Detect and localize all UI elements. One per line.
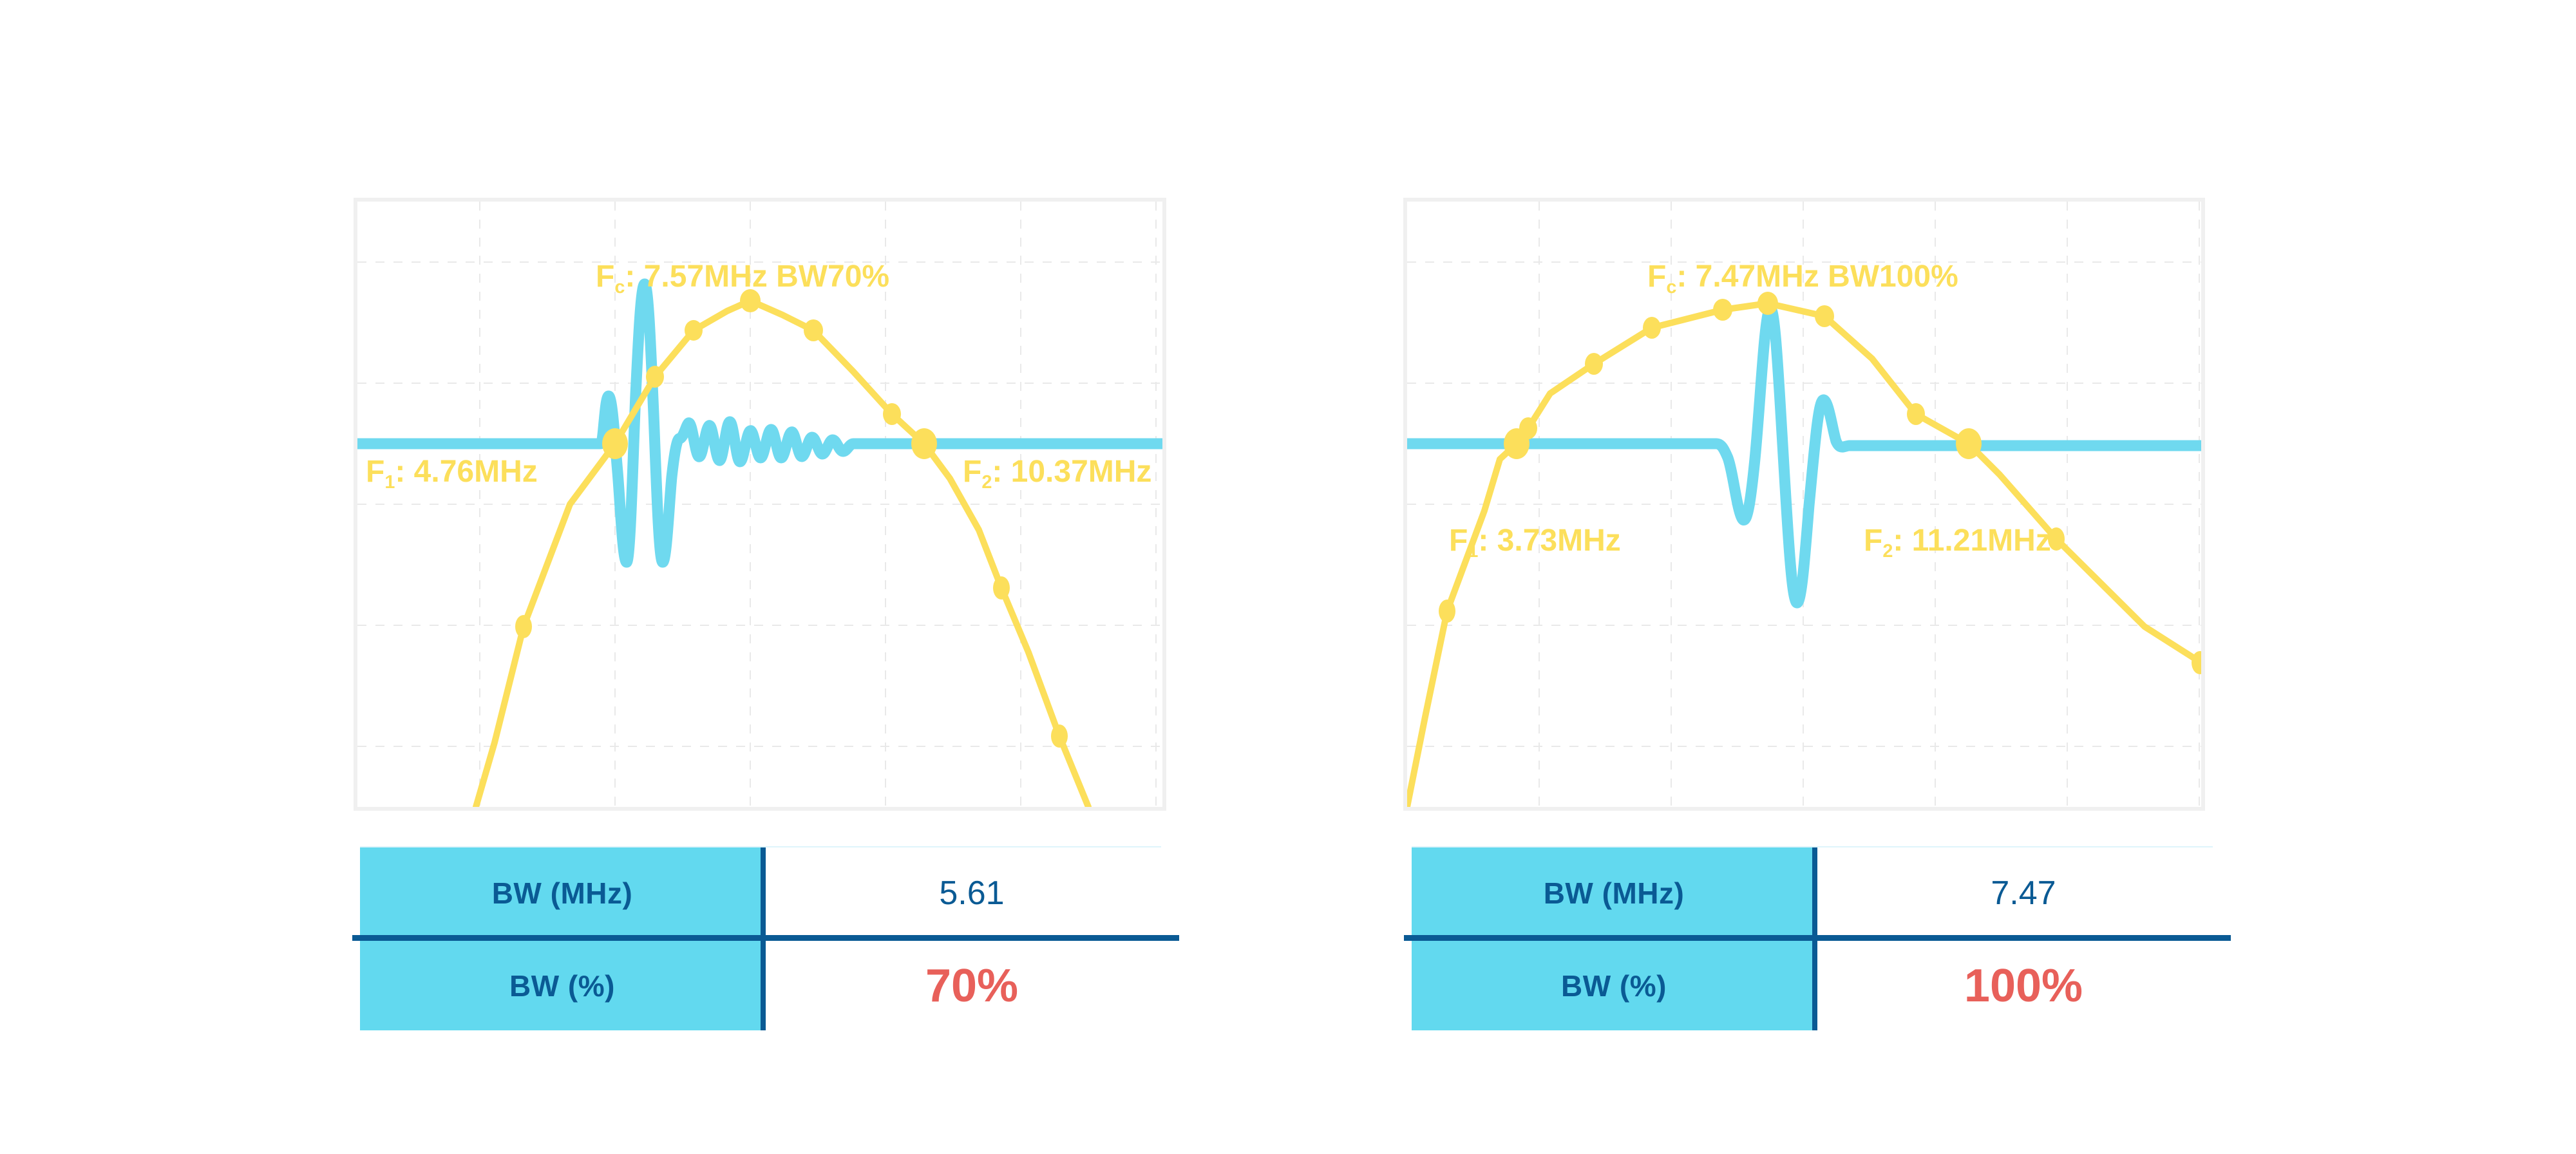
left-fc-subscript: c	[614, 277, 625, 298]
right-fc-subscript: c	[1666, 277, 1676, 298]
right-f2-annotation: F2: 11.21MHz	[1864, 523, 2051, 562]
left-row2-value: 70%	[925, 960, 1018, 1012]
table-row: BW (MHz) 5.61	[360, 847, 1179, 939]
table-row: BW (%) 100%	[1412, 941, 2231, 1030]
right-table-column-divider	[1812, 847, 1817, 1030]
right-row1-value-cell: 7.47	[1816, 847, 2231, 939]
left-f1-annotation: F1: 4.76MHz	[366, 454, 538, 493]
left-row1-value-cell: 5.61	[764, 847, 1179, 939]
right-row1-label: BW (MHz)	[1544, 876, 1685, 911]
left-row2-value-cell: 70%	[764, 941, 1179, 1030]
right-spectrum-markers	[1439, 292, 2201, 674]
left-f2-annotation: F2: 10.37MHz	[963, 454, 1151, 493]
right-f1-annotation: F1: 3.73MHz	[1449, 523, 1621, 562]
right-f1-subscript: 1	[1468, 541, 1478, 562]
left-fc-text: : 7.57MHz BW70%	[625, 260, 889, 294]
right-fc-prefix: F	[1647, 260, 1666, 294]
right-f2-text: : 11.21MHz	[1893, 524, 2050, 558]
right-f2-subscript: 2	[1882, 541, 1893, 562]
left-f2-subscript: 2	[981, 472, 992, 493]
left-row1-label-cell: BW (MHz)	[360, 847, 764, 939]
left-table-middle-rule	[352, 935, 1179, 941]
right-row1-label-cell: BW (MHz)	[1412, 847, 1816, 939]
right-fc-text: : 7.47MHz BW100%	[1676, 260, 1958, 294]
left-f1-subscript: 1	[384, 472, 395, 493]
left-spectrum-line	[476, 301, 1088, 807]
left-row1-label: BW (MHz)	[492, 876, 633, 911]
right-f1-prefix: F	[1449, 524, 1468, 558]
left-pulse-waveform	[357, 284, 1162, 562]
left-f2-text: : 10.37MHz	[992, 455, 1151, 489]
left-row2-label-cell: BW (%)	[360, 941, 764, 1030]
right-row1-value: 7.47	[1991, 874, 2056, 913]
left-row2-label: BW (%)	[509, 969, 615, 1003]
right-row2-value: 100%	[1964, 960, 2083, 1012]
left-f1-prefix: F	[366, 455, 384, 489]
right-f2-prefix: F	[1864, 524, 1882, 558]
table-row: BW (%) 70%	[360, 941, 1179, 1030]
right-fc-annotation: Fc: 7.47MHz BW100%	[1647, 259, 1958, 298]
left-fc-prefix: F	[596, 260, 614, 294]
left-fc-annotation: Fc: 7.57MHz BW70%	[596, 259, 889, 298]
left-f1-text: : 4.76MHz	[395, 455, 537, 489]
right-row2-value-cell: 100%	[1816, 941, 2231, 1030]
left-row1-value: 5.61	[939, 874, 1004, 913]
left-spectrum-markers	[515, 289, 1068, 748]
left-table-column-divider	[761, 847, 766, 1030]
right-f1-text: : 3.73MHz	[1478, 524, 1620, 558]
left-f2-prefix: F	[963, 455, 981, 489]
right-row2-label-cell: BW (%)	[1412, 941, 1816, 1030]
right-table-middle-rule	[1404, 935, 2231, 941]
table-row: BW (MHz) 7.47	[1412, 847, 2231, 939]
right-row2-label: BW (%)	[1561, 969, 1667, 1003]
